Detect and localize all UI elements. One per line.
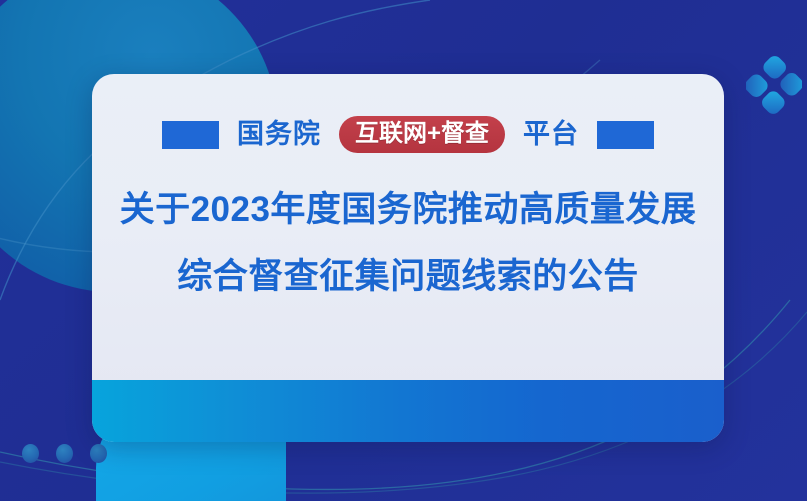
diamond-logo-icon	[746, 56, 802, 114]
dot-icon	[56, 444, 73, 463]
card-bottom-gradient-bar	[92, 380, 724, 442]
header-left-block-decoration	[162, 121, 219, 149]
dot-icon	[22, 444, 39, 463]
header-right-block-decoration	[597, 121, 654, 149]
announcement-title: 关于2023年度国务院推动高质量发展 综合督查征集问题线索的公告	[92, 192, 724, 294]
announcement-card: 国务院 互联网+督查 平台 关于2023年度国务院推动高质量发展 综合督查征集问…	[92, 74, 724, 442]
card-body: 国务院 互联网+督查 平台 关于2023年度国务院推动高质量发展 综合督查征集问…	[92, 74, 724, 380]
title-line-1: 关于2023年度国务院推动高质量发展	[92, 192, 724, 227]
platform-header: 国务院 互联网+督查 平台	[92, 116, 724, 153]
header-word-left: 国务院	[237, 121, 321, 148]
header-word-right: 平台	[523, 121, 579, 148]
dot-icon	[90, 444, 107, 463]
decorative-dots	[22, 444, 107, 463]
poster-canvas: 国务院 互联网+督查 平台 关于2023年度国务院推动高质量发展 综合督查征集问…	[0, 0, 807, 501]
title-line-2: 综合督查征集问题线索的公告	[92, 259, 724, 294]
header-badge: 互联网+督查	[339, 116, 505, 153]
